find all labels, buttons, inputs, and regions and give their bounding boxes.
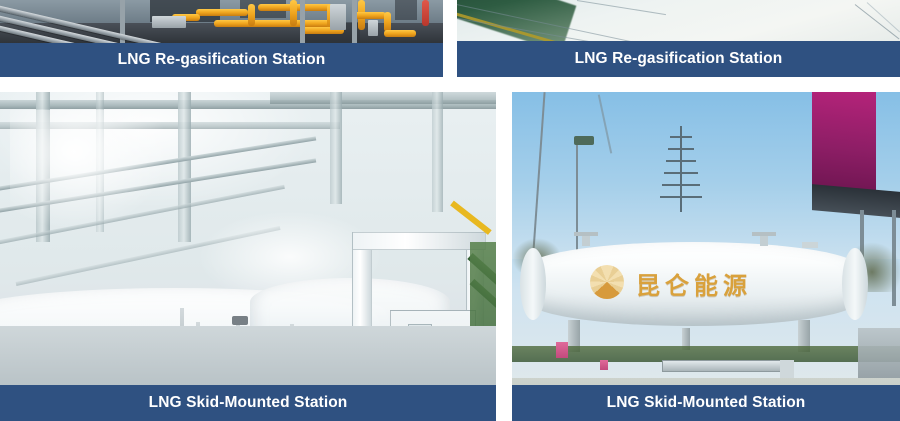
gallery-card-bottom-left[interactable]: LNG Skid-Mounted Station [0, 92, 496, 421]
gallery-card-caption: LNG Re-gasification Station [0, 43, 443, 77]
kunlun-energy-brand-text: 昆仑能源 [636, 266, 752, 301]
gallery-card-caption: LNG Skid-Mounted Station [0, 385, 496, 421]
lng-regasification-hall-photo [0, 0, 443, 43]
petrochina-sunburst-logo [590, 265, 624, 299]
gallery-card-caption: LNG Skid-Mounted Station [512, 385, 900, 421]
gallery-card-bottom-right[interactable]: 昆仑能源 [512, 92, 900, 421]
gallery-card-top-left[interactable]: LNG Re-gasification Station [0, 0, 443, 77]
lng-skid-mounted-indoor-photo [0, 92, 496, 385]
lng-regasification-pad-photo [457, 0, 900, 41]
lng-skid-mounted-outdoor-photo: 昆仑能源 [512, 92, 900, 385]
gallery-card-caption: LNG Re-gasification Station [457, 41, 900, 77]
lng-station-photo-gallery: LNG Re-gasification Station LNG Re-gasif… [0, 0, 900, 421]
gallery-card-top-right[interactable]: LNG Re-gasification Station [457, 0, 900, 77]
